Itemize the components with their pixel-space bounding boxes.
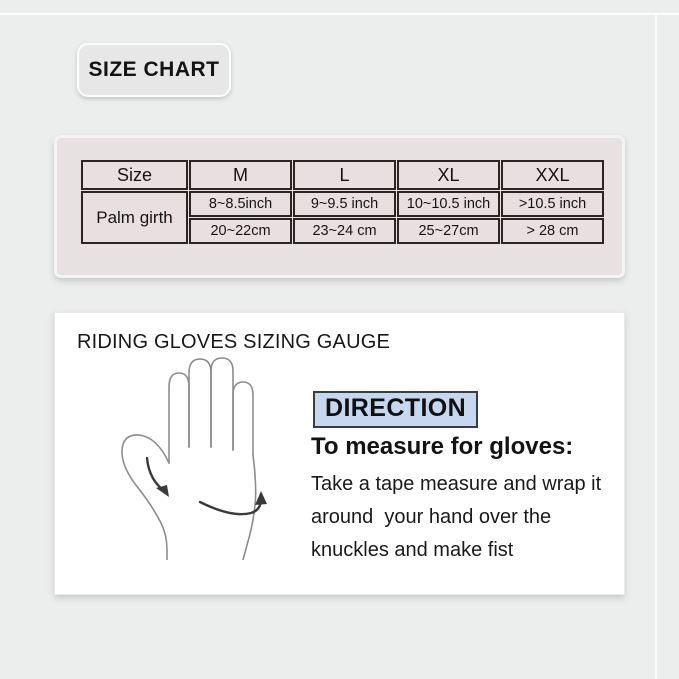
table-cell-inch-xxl: >10.5 inch bbox=[501, 191, 604, 217]
size-chart-badge: SIZE CHART bbox=[77, 43, 231, 97]
direction-badge: DIRECTION bbox=[313, 391, 478, 428]
measure-heading: To measure for gloves: bbox=[311, 433, 573, 461]
measure-instructions: Take a tape measure and wrap it around y… bbox=[311, 468, 621, 567]
table-header-cell-l: L bbox=[293, 160, 396, 190]
gauge-title: RIDING GLOVES SIZING GAUGE bbox=[77, 331, 390, 354]
table-header-cell-xxl: XXL bbox=[501, 160, 604, 190]
table-row: Palm girth 8~8.5inch 9~9.5 inch 10~10.5 … bbox=[81, 191, 604, 217]
table-header-row: Size M L XL XXL bbox=[81, 160, 604, 190]
top-divider-rule bbox=[0, 13, 679, 15]
table-cell-inch-l: 9~9.5 inch bbox=[293, 191, 396, 217]
table-cell-cm-xl: 25~27cm bbox=[397, 218, 500, 244]
direction-label: DIRECTION bbox=[325, 394, 466, 422]
size-table: Size M L XL XXL Palm girth 8~8.5inch 9~9… bbox=[80, 159, 605, 245]
hand-outline-icon bbox=[117, 355, 307, 560]
table-row-label-palm-girth: Palm girth bbox=[81, 191, 188, 244]
table-header-cell-xl: XL bbox=[397, 160, 500, 190]
table-cell-cm-m: 20~22cm bbox=[189, 218, 292, 244]
size-chart-badge-label: SIZE CHART bbox=[89, 58, 220, 82]
right-divider-rule bbox=[655, 15, 657, 679]
table-cell-cm-l: 23~24 cm bbox=[293, 218, 396, 244]
table-cell-inch-xl: 10~10.5 inch bbox=[397, 191, 500, 217]
size-table-panel: Size M L XL XXL Palm girth 8~8.5inch 9~9… bbox=[54, 135, 625, 278]
table-header-cell-size: Size bbox=[81, 160, 188, 190]
arrow-head-icon bbox=[255, 491, 267, 505]
sizing-gauge-panel: RIDING GLOVES SIZING GAUGE DIRECTI bbox=[54, 312, 625, 595]
table-header-cell-m: M bbox=[189, 160, 292, 190]
table-cell-cm-xxl: > 28 cm bbox=[501, 218, 604, 244]
table-cell-inch-m: 8~8.5inch bbox=[189, 191, 292, 217]
